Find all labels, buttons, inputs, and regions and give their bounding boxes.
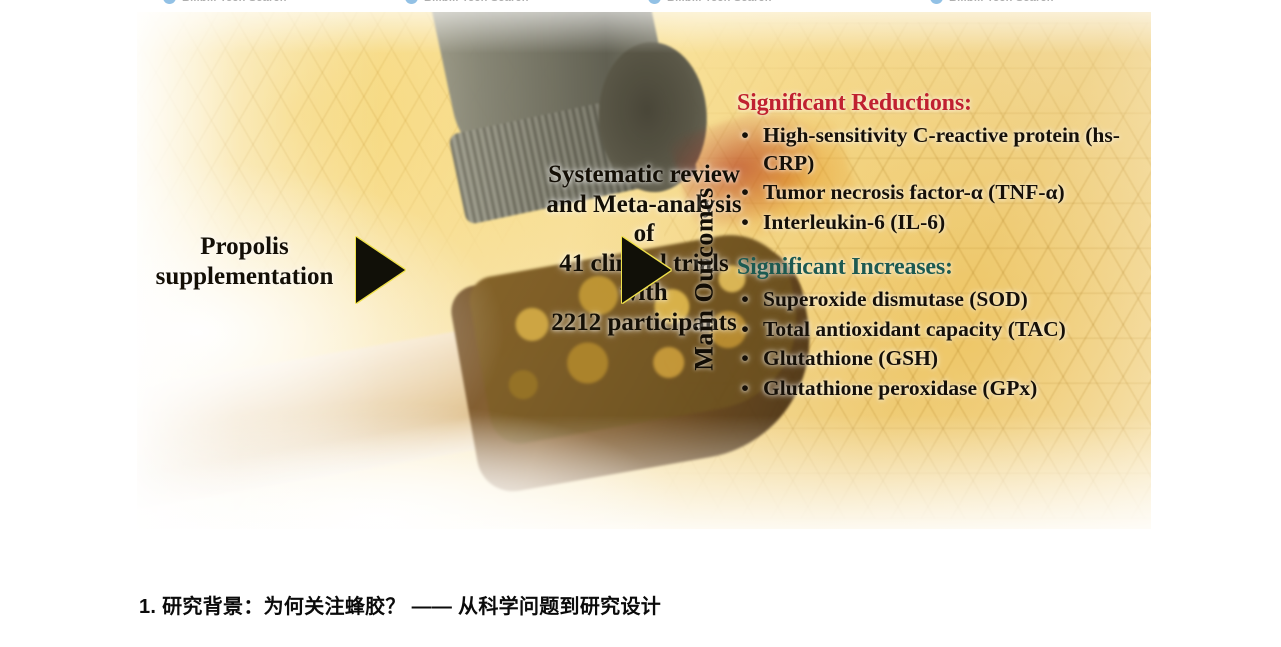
flow-method-line-6: 2212 participants (519, 308, 769, 338)
watermark-label: Bilibili Tech Search (667, 0, 772, 4)
right-triangle-arrow-icon (356, 237, 405, 303)
watermark-label: Bilibili Tech Search (949, 0, 1054, 4)
flow-method-line-2: and Meta-analysis (519, 190, 769, 220)
list-item: • Interleukin-6 (IL-6) (737, 209, 1151, 237)
list-item-label: Superoxide dismutase (SOD) (763, 286, 1151, 314)
watermark-item: Bilibili Tech Search (405, 0, 529, 4)
flow-input-line-1: Propolis (137, 232, 352, 262)
list-item: • Total antioxidant capacity (TAC) (737, 316, 1151, 344)
watermark-label: Bilibili Tech Search (424, 0, 529, 4)
increases-heading: Significant Increases: (737, 254, 1151, 281)
list-item-label: Interleukin-6 (IL-6) (763, 209, 1151, 237)
list-item-label: Glutathione (GSH) (763, 345, 1151, 373)
flow-input-line-2: supplementation (137, 262, 352, 292)
bullet-icon: • (737, 179, 753, 207)
list-item: • Superoxide dismutase (SOD) (737, 286, 1151, 314)
bullet-icon: • (737, 375, 753, 403)
section-caption: 1. 研究背景：为何关注蜂胶？ —— 从科学问题到研究设计 (139, 590, 661, 619)
bullet-icon: • (737, 209, 753, 237)
list-item-label: Total antioxidant capacity (TAC) (763, 316, 1151, 344)
list-item: • Glutathione (GSH) (737, 345, 1151, 373)
watermark-strip: Bilibili Tech Search Bilibili Tech Searc… (0, 0, 1281, 10)
list-item-label: High-sensitivity C-reactive protein (hs-… (763, 122, 1151, 177)
watermark-label: Bilibili Tech Search (182, 0, 287, 4)
graphical-abstract-figure: Propolis supplementation Systematic revi… (137, 12, 1151, 529)
bee-logo-icon (930, 0, 943, 4)
list-item-label: Tumor necrosis factor-α (TNF-α) (763, 179, 1151, 207)
flow-method-line-1: Systematic review (519, 160, 769, 190)
main-outcomes-text: Main Outcomes (690, 187, 720, 370)
increases-list: • Superoxide dismutase (SOD) • Total ant… (737, 286, 1151, 402)
list-item: • High-sensitivity C-reactive protein (h… (737, 122, 1151, 177)
reductions-list: • High-sensitivity C-reactive protein (h… (737, 122, 1151, 236)
list-item-label: Glutathione peroxidase (GPx) (763, 375, 1151, 403)
main-outcomes-vertical-label: Main Outcomes (685, 164, 725, 394)
watermark-item: Bilibili Tech Search (930, 0, 1054, 4)
bullet-icon: • (737, 286, 753, 314)
bullet-icon: • (737, 345, 753, 373)
bee-logo-icon (405, 0, 418, 4)
reductions-heading: Significant Reductions: (737, 90, 1151, 117)
flow-stage-input: Propolis supplementation (137, 232, 352, 291)
watermark-item: Bilibili Tech Search (163, 0, 287, 4)
list-item: • Glutathione peroxidase (GPx) (737, 375, 1151, 403)
outcome-block-reductions: Significant Reductions: • High-sensitivi… (737, 90, 1151, 236)
right-triangle-arrow-icon (622, 237, 671, 303)
bee-logo-icon (163, 0, 176, 4)
outcomes-panel: Significant Reductions: • High-sensitivi… (737, 90, 1151, 420)
bullet-icon: • (737, 122, 753, 150)
bee-logo-icon (648, 0, 661, 4)
outcome-block-increases: Significant Increases: • Superoxide dism… (737, 254, 1151, 402)
list-item: • Tumor necrosis factor-α (TNF-α) (737, 179, 1151, 207)
watermark-item: Bilibili Tech Search (648, 0, 772, 4)
bullet-icon: • (737, 316, 753, 344)
